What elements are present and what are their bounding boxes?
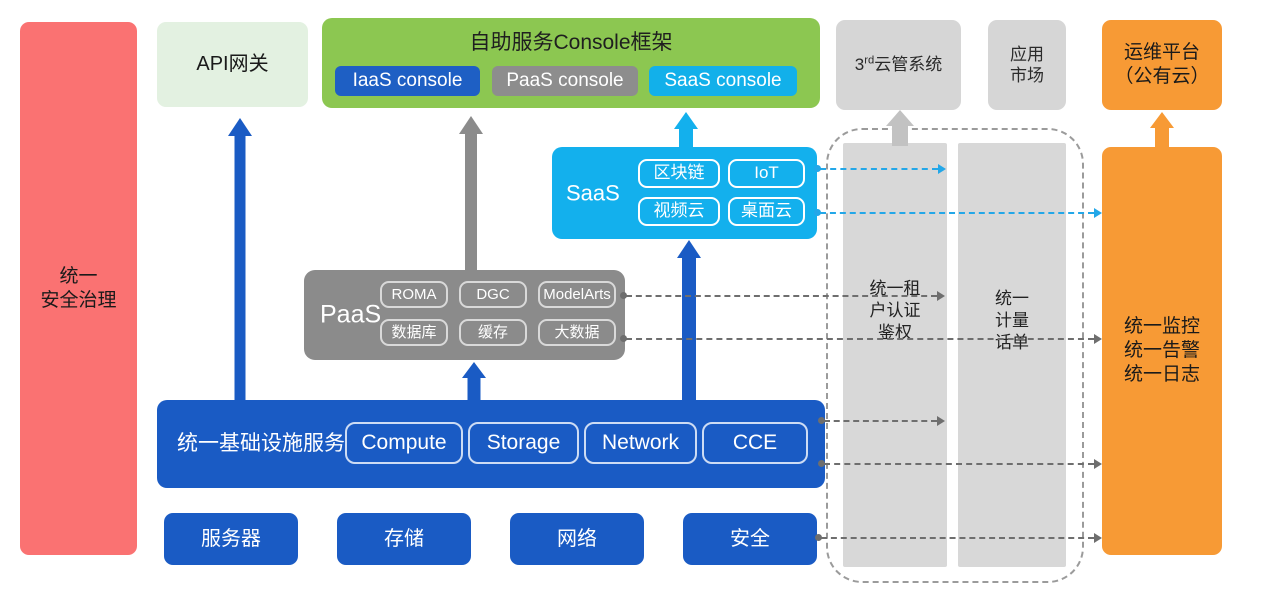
metering-column[interactable] — [958, 143, 1066, 567]
dashline-resources-to-ops — [821, 537, 1094, 539]
arrow-infra-to-paas — [461, 362, 487, 402]
ops-platform-box[interactable]: 运维平台 （公有云） — [1102, 20, 1222, 110]
resource-security-box[interactable]: 安全 — [683, 513, 817, 565]
infra-chip-cce[interactable]: CCE — [702, 422, 808, 464]
saas-chip-iot[interactable]: IoT — [728, 159, 805, 188]
paas-chip-roma[interactable]: ROMA — [380, 281, 448, 308]
infra-chip-compute[interactable]: Compute — [345, 422, 463, 464]
arrowhead-infra-to-ops — [1094, 459, 1102, 469]
arrow-saas-to-console — [673, 112, 699, 150]
resource-network-box[interactable]: 网络 — [510, 513, 644, 565]
third-party-cloud-mgmt-box[interactable]: 3rd云管系统 — [836, 20, 961, 110]
arrow-infra-to-api-gateway — [228, 118, 252, 402]
infrastructure-label: 统一基础设施服务 — [177, 431, 345, 457]
dashline-infra-to-ops — [824, 463, 1094, 465]
architecture-diagram: 统一 安全治理 API网关 自助服务Console框架 IaaS console… — [0, 0, 1265, 605]
metering-line-1: 统一 — [958, 288, 1066, 310]
metering-line-2: 计量 — [958, 310, 1066, 332]
dashline-saas-to-auth — [820, 168, 938, 170]
third-party-label: 3rd云管系统 — [855, 54, 942, 75]
ops-platform-line-2: （公有云） — [1114, 65, 1209, 89]
saas-label: SaaS — [566, 179, 620, 207]
ops-cap-line-1: 统一监控 — [1124, 315, 1200, 339]
arrow-ops-capabilities-to-platform — [1149, 112, 1175, 148]
arrowhead-infra-to-auth — [937, 416, 945, 426]
self-service-console-frame: 自助服务Console框架 IaaS console PaaS console … — [322, 18, 820, 108]
metering-label: 统一 计量 话单 — [958, 288, 1066, 353]
app-market-line-1: 应用 — [1010, 44, 1044, 65]
arrowhead-paas-to-auth — [937, 291, 945, 301]
arrowhead-paas-to-ops — [1094, 334, 1102, 344]
tenant-auth-column[interactable] — [843, 143, 947, 567]
dashline-saas-to-ops — [820, 212, 1094, 214]
saas-chip-desktop-cloud[interactable]: 桌面云 — [728, 197, 805, 226]
dashline-paas-to-ops — [626, 338, 1094, 340]
iaas-console-button[interactable]: IaaS console — [335, 66, 480, 96]
metering-line-3: 话单 — [958, 332, 1066, 354]
saas-chip-blockchain[interactable]: 区块链 — [638, 159, 720, 188]
arrow-shared-to-third-party — [886, 110, 914, 146]
paas-console-button[interactable]: PaaS console — [492, 66, 638, 96]
saas-block: SaaS 区块链 IoT 视频云 桌面云 — [552, 147, 817, 239]
infra-chip-network[interactable]: Network — [584, 422, 697, 464]
security-line-1: 统一 — [59, 265, 97, 289]
ops-platform-line-1: 运维平台 — [1124, 41, 1200, 65]
infra-chip-storage[interactable]: Storage — [468, 422, 579, 464]
paas-chip-dgc[interactable]: DGC — [459, 281, 527, 308]
console-frame-title: 自助服务Console框架 — [322, 30, 820, 56]
security-line-2: 安全治理 — [40, 289, 116, 313]
arrowhead-saas-to-ops — [1094, 208, 1102, 218]
arrow-infra-to-saas — [676, 240, 702, 402]
app-market-box[interactable]: 应用 市场 — [988, 20, 1066, 110]
resource-storage-box[interactable]: 存储 — [337, 513, 471, 565]
arrowhead-saas-to-auth — [938, 164, 946, 174]
saas-chip-video-cloud[interactable]: 视频云 — [638, 197, 720, 226]
api-gateway-box[interactable]: API网关 — [157, 22, 308, 107]
paas-chip-modelarts[interactable]: ModelArts — [538, 281, 616, 308]
app-market-line-2: 市场 — [1010, 65, 1044, 86]
paas-label: PaaS — [320, 299, 381, 330]
ops-cap-line-2: 统一告警 — [1124, 339, 1200, 363]
arrow-paas-to-console — [458, 116, 484, 272]
dashline-paas-to-auth — [626, 295, 937, 297]
arrowhead-resources-to-ops — [1094, 533, 1102, 543]
paas-chip-database[interactable]: 数据库 — [380, 319, 448, 346]
dashline-infra-to-auth — [824, 420, 937, 422]
resource-server-box[interactable]: 服务器 — [164, 513, 298, 565]
ops-cap-line-3: 统一日志 — [1124, 363, 1200, 387]
saas-console-button[interactable]: SaaS console — [649, 66, 797, 96]
api-gateway-label: API网关 — [196, 52, 268, 77]
ops-capabilities-panel[interactable]: 统一监控 统一告警 统一日志 — [1102, 147, 1222, 555]
paas-chip-cache[interactable]: 缓存 — [459, 319, 527, 346]
unified-security-governance-panel[interactable]: 统一 安全治理 — [20, 22, 137, 555]
unified-infrastructure-block: 统一基础设施服务 Compute Storage Network CCE — [157, 400, 825, 488]
paas-block: PaaS ROMA DGC ModelArts 数据库 缓存 大数据 — [304, 270, 625, 360]
paas-chip-bigdata[interactable]: 大数据 — [538, 319, 616, 346]
tenant-auth-line-2: 户认证 — [843, 300, 947, 322]
tenant-auth-label: 统一租 户认证 鉴权 — [843, 278, 947, 343]
